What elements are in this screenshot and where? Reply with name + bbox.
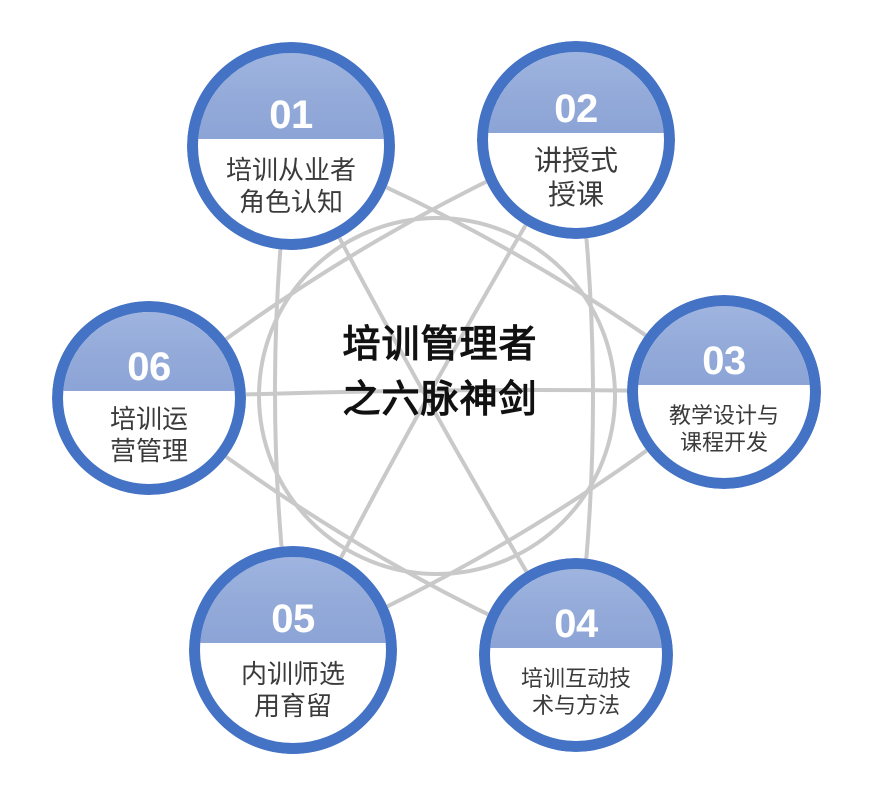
node-06[interactable]: 06培训运营管理 bbox=[52, 301, 246, 495]
node-03[interactable]: 03教学设计与课程开发 bbox=[627, 295, 821, 489]
node-label-line-2-02: 授课 bbox=[534, 178, 618, 212]
node-label-01: 培训从业者角色认知 bbox=[222, 155, 360, 218]
node-number-02: 02 bbox=[554, 89, 598, 129]
node-label-line-1-04: 培训互动技 bbox=[521, 666, 631, 693]
node-label-line-2-06: 营管理 bbox=[110, 436, 188, 468]
node-label-line-1-01: 培训从业者 bbox=[226, 155, 356, 187]
node-inner-03: 03教学设计与课程开发 bbox=[638, 306, 810, 478]
node-number-03: 03 bbox=[702, 341, 746, 381]
node-label-line-2-01: 角色认知 bbox=[226, 187, 356, 219]
node-number-band-01: 01 bbox=[198, 53, 384, 139]
node-body-02: 讲授式授课 bbox=[488, 133, 664, 228]
node-label-line-2-05: 用育留 bbox=[241, 691, 345, 723]
node-label-05: 内训师选用育留 bbox=[237, 659, 349, 722]
node-label-02: 讲授式授课 bbox=[530, 144, 622, 212]
center-title-line-1: 培训管理者 bbox=[290, 318, 590, 373]
node-label-line-1-02: 讲授式 bbox=[534, 144, 618, 178]
node-number-04: 04 bbox=[554, 604, 598, 644]
node-label-line-1-05: 内训师选 bbox=[241, 659, 345, 691]
node-label-line-2-03: 课程开发 bbox=[669, 430, 779, 457]
node-label-line-1-06: 培训运 bbox=[110, 404, 188, 436]
node-inner-04: 04培训互动技术与方法 bbox=[490, 569, 662, 741]
node-number-band-03: 03 bbox=[638, 306, 810, 385]
node-number-band-02: 02 bbox=[488, 52, 664, 133]
node-label-line-1-03: 教学设计与 bbox=[669, 403, 779, 430]
node-body-03: 教学设计与课程开发 bbox=[638, 385, 810, 478]
node-body-01: 培训从业者角色认知 bbox=[198, 139, 384, 239]
node-body-06: 培训运营管理 bbox=[63, 391, 235, 484]
node-label-line-2-04: 术与方法 bbox=[521, 693, 631, 720]
node-02[interactable]: 02讲授式授课 bbox=[477, 41, 675, 239]
node-inner-06: 06培训运营管理 bbox=[63, 312, 235, 484]
node-01[interactable]: 01培训从业者角色认知 bbox=[187, 42, 395, 250]
node-04[interactable]: 04培训互动技术与方法 bbox=[479, 558, 673, 752]
node-inner-05: 05内训师选用育留 bbox=[200, 557, 386, 743]
node-number-06: 06 bbox=[127, 347, 171, 387]
node-05[interactable]: 05内训师选用育留 bbox=[189, 546, 397, 754]
node-number-band-04: 04 bbox=[490, 569, 662, 648]
node-label-06: 培训运营管理 bbox=[106, 404, 192, 467]
node-number-band-05: 05 bbox=[200, 557, 386, 643]
node-inner-01: 01培训从业者角色认知 bbox=[198, 53, 384, 239]
node-number-band-06: 06 bbox=[63, 312, 235, 391]
node-body-05: 内训师选用育留 bbox=[200, 643, 386, 743]
node-body-04: 培训互动技术与方法 bbox=[490, 648, 662, 741]
node-label-04: 培训互动技术与方法 bbox=[517, 666, 635, 720]
node-number-05: 05 bbox=[271, 599, 315, 639]
center-title-line-2: 之六脉神剑 bbox=[290, 373, 590, 428]
node-number-01: 01 bbox=[269, 95, 313, 135]
node-inner-02: 02讲授式授课 bbox=[488, 52, 664, 228]
diagram-canvas: 01培训从业者角色认知02讲授式授课03教学设计与课程开发04培训互动技术与方法… bbox=[0, 0, 880, 807]
node-label-03: 教学设计与课程开发 bbox=[665, 403, 783, 457]
center-title: 培训管理者 之六脉神剑 bbox=[290, 318, 590, 428]
